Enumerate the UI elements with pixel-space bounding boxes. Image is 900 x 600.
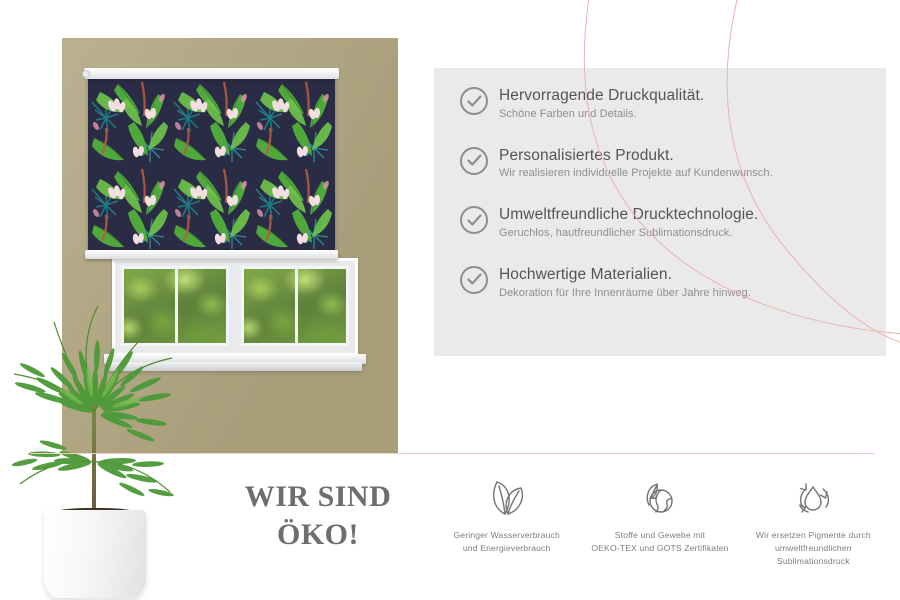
feature-title: Personalisiertes Produkt.	[499, 147, 773, 165]
eco-caption-line-3: Sublimationsdruck	[777, 556, 850, 566]
section-divider	[30, 453, 875, 454]
globe-leaf-icon	[583, 470, 736, 526]
eco-caption-line-2: und Energieverbrauch	[463, 543, 551, 553]
eco-caption-line-1: Stoffe und Gewebe mit	[615, 530, 705, 540]
blind-fabric-tropical-print	[88, 78, 335, 252]
window-mullion-right	[295, 266, 298, 346]
feature-title: Hervorragende Druckqualität.	[499, 87, 704, 105]
eco-item: Wir ersetzen Pigmente durch umweltfreund…	[737, 470, 890, 568]
feature-item: Umweltfreundliche Drucktechnologie. Geru…	[460, 205, 890, 241]
blind-bottom-rail	[85, 250, 338, 259]
feature-item: Personalisiertes Produkt. Wir realisiere…	[460, 146, 890, 182]
feature-subtitle: Schöne Farben und Details.	[499, 107, 704, 122]
features-list: Hervorragende Druckqualität. Schöne Farb…	[460, 86, 890, 325]
feature-subtitle: Geruchlos, hautfreundlicher Sublimations…	[499, 226, 758, 241]
water-drop-recycle-icon	[737, 470, 890, 526]
feature-item: Hervorragende Druckqualität. Schöne Farb…	[460, 86, 890, 122]
eco-caption-line-2: OEKO-TEX und GOTS Zertifikaten	[591, 543, 728, 553]
eco-caption-line-1: Wir ersetzen Pigmente durch	[756, 530, 871, 540]
feature-item: Hochwertige Materialien. Dekoration für …	[460, 265, 890, 301]
feature-title: Hochwertige Materialien.	[499, 266, 751, 284]
check-circle-icon	[460, 206, 488, 234]
eco-heading-line-2: ÖKO!	[218, 516, 418, 554]
roller-blind	[88, 68, 335, 263]
feature-title: Umweltfreundliche Drucktechnologie.	[499, 206, 758, 224]
check-circle-icon	[460, 147, 488, 175]
blind-end-cap	[82, 70, 90, 78]
white-plant-pot	[44, 510, 146, 598]
eco-caption: Geringer Wasserverbrauch und Energieverb…	[430, 529, 583, 555]
palm-fronds	[0, 262, 194, 532]
blind-head-rail	[84, 68, 339, 79]
eco-item: Stoffe und Gewebe mit OEKO-TEX und GOTS …	[583, 470, 736, 568]
feature-subtitle: Wir realisieren individuelle Projekte au…	[499, 166, 773, 181]
potted-bamboo-palm	[0, 262, 194, 600]
eco-caption: Stoffe und Gewebe mit OEKO-TEX und GOTS …	[583, 529, 736, 555]
tropical-leaf-pattern	[88, 78, 335, 252]
eco-heading: WIR SIND ÖKO!	[218, 478, 418, 554]
eco-caption: Wir ersetzen Pigmente durch umweltfreund…	[737, 529, 890, 568]
feature-subtitle: Dekoration für Ihre Innenräume über Jahr…	[499, 286, 751, 301]
eco-caption-line-2: umweltfreundlichen	[775, 543, 852, 553]
eco-items: Geringer Wasserverbrauch und Energieverb…	[430, 470, 890, 568]
check-circle-icon	[460, 87, 488, 115]
eco-item: Geringer Wasserverbrauch und Energieverb…	[430, 470, 583, 568]
eco-heading-line-1: WIR SIND	[218, 478, 418, 516]
infographic-stage: Hervorragende Druckqualität. Schöne Farb…	[0, 0, 900, 600]
check-circle-icon	[460, 266, 488, 294]
eco-caption-line-1: Geringer Wasserverbrauch	[453, 530, 559, 540]
two-leaves-icon	[430, 470, 583, 526]
